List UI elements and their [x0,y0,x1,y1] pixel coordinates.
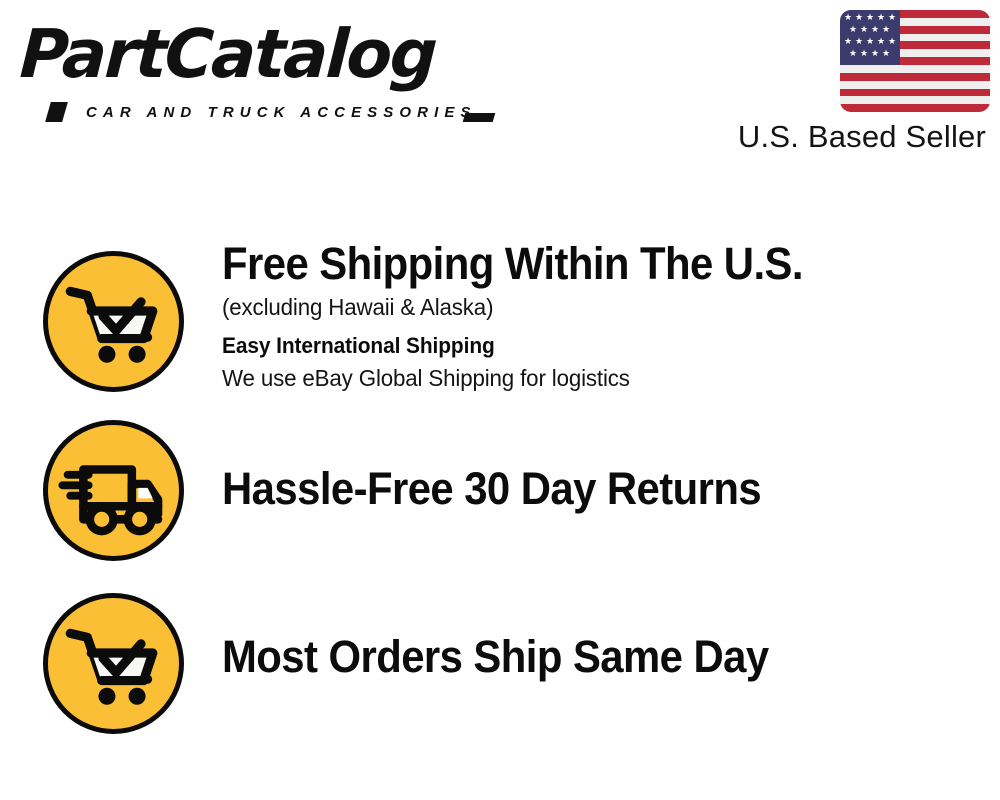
delivery-truck-icon [43,420,184,561]
flag-canton: ★ ★ ★ ★ ★ ★ ★ ★ ★ ★ ★ ★ ★ ★ ★ ★ ★ ★ [840,10,900,65]
feature-headline: Hassle-Free 30 Day Returns [222,462,927,516]
feature-subline: (excluding Hawaii & Alaska) [222,291,957,323]
flag-stripe [840,81,990,89]
feature-text-block: Hassle-Free 30 Day Returns [222,462,980,516]
shopping-cart-check-icon [43,251,184,392]
feature-row: Hassle-Free 30 Day Returns [0,417,1000,588]
feature-sub-detail: We use eBay Global Shipping for logistic… [222,362,957,394]
partcatalog-logo: PartCatalog CAR AND TRUCK ACCESSORIES [22,18,492,113]
flag-stripe [840,65,990,73]
feature-text-block: Free Shipping Within The U.S. (excluding… [222,237,980,394]
us-flag-icon: ★ ★ ★ ★ ★ ★ ★ ★ ★ ★ ★ ★ ★ ★ ★ ★ ★ ★ [840,10,990,112]
logo-wordmark: PartCatalog [18,18,437,90]
shopping-cart-check-icon [43,593,184,734]
feature-text-block: Most Orders Ship Same Day [222,630,980,684]
banner-header: PartCatalog CAR AND TRUCK ACCESSORIES ★ … [0,0,1000,175]
flag-stripe [840,104,990,112]
logo-tagline: CAR AND TRUCK ACCESSORIES [86,104,477,121]
feature-headline: Free Shipping Within The U.S. [222,237,927,291]
logo-slash-left-icon [45,102,68,122]
flag-stripe [840,73,990,81]
flag-stripe [840,96,990,104]
feature-sub-strong: Easy International Shipping [222,329,942,362]
feature-row: Most Orders Ship Same Day [0,588,1000,748]
us-based-seller-label: U.S. Based Seller [738,119,986,155]
flag-stripe [840,89,990,97]
feature-headline: Most Orders Ship Same Day [222,630,927,684]
feature-row: Free Shipping Within The U.S. (excluding… [0,245,1000,417]
